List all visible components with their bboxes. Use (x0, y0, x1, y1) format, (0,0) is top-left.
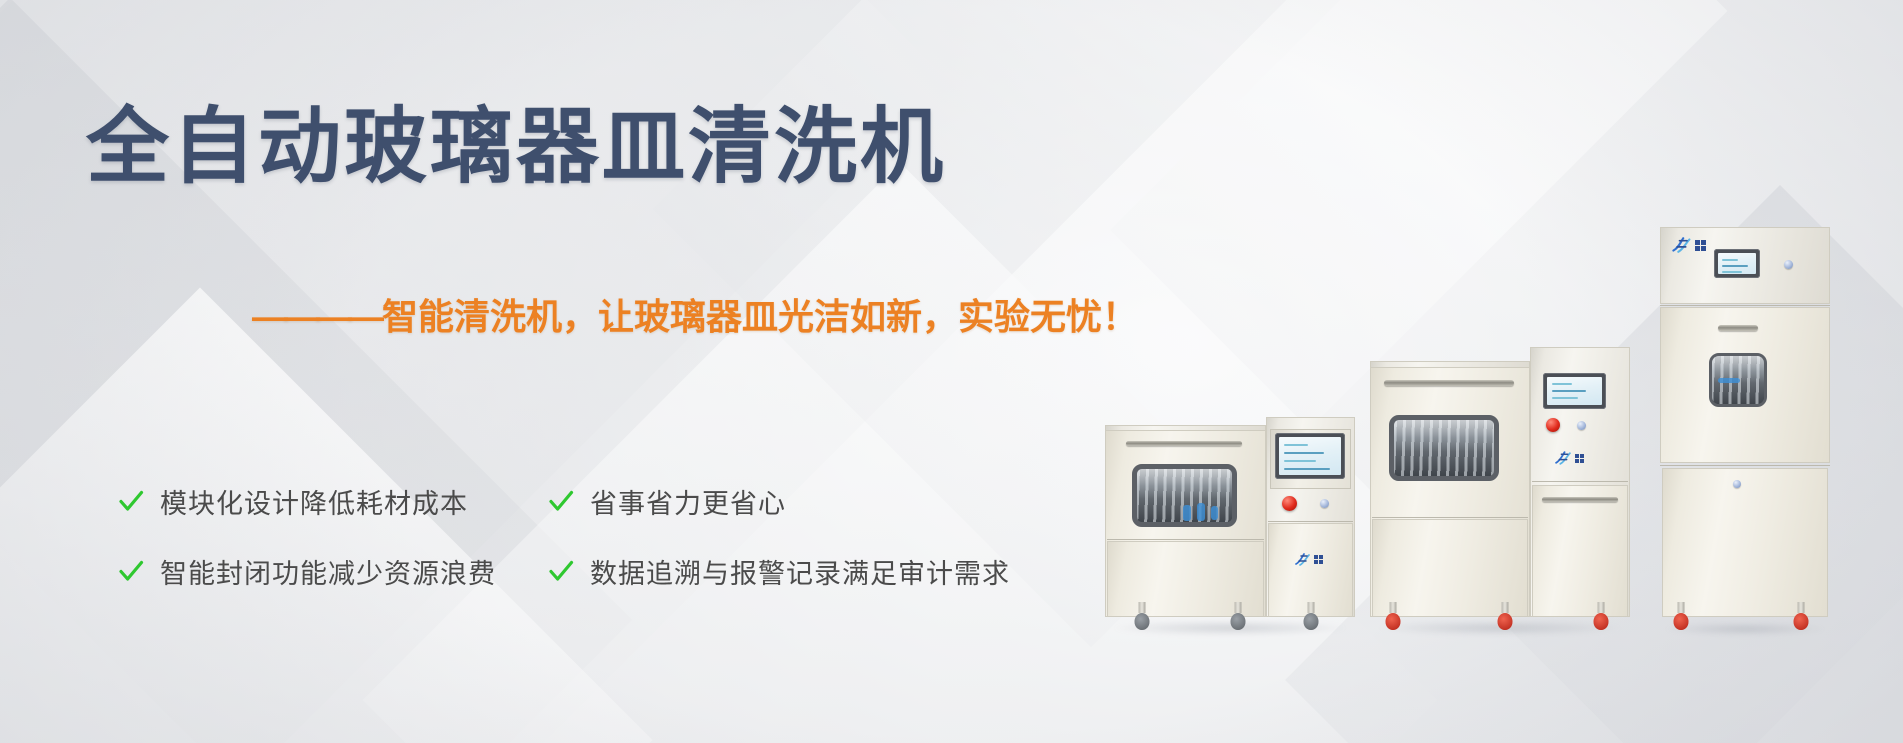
door-latch-button[interactable] (1733, 480, 1741, 488)
chamber-top-lip (1105, 425, 1266, 431)
chamber-viewing-window (1132, 464, 1237, 527)
feature-item: 数据追溯与报警记录满足审计需求 (548, 552, 998, 591)
glassware-rack-item (1718, 378, 1740, 383)
product-photo-group (1095, 0, 1903, 743)
emergency-stop-button[interactable] (1546, 418, 1560, 432)
brand-wordmark-icon (1695, 240, 1706, 251)
emergency-stop-button[interactable] (1282, 496, 1297, 511)
product-image-undercounter-glassware-washer (1105, 417, 1355, 630)
caster-wheel (1496, 602, 1514, 630)
feature-item: 模块化设计降低耗材成本 (118, 482, 548, 521)
hmi-status-line (1284, 452, 1324, 454)
panel-seam (1107, 539, 1264, 540)
window-glass (1394, 420, 1494, 476)
hmi-touchscreen[interactable] (1714, 249, 1760, 278)
hmi-status-line (1722, 271, 1742, 273)
power-indicator-button[interactable] (1784, 260, 1793, 269)
hmi-status-line (1284, 460, 1316, 462)
brand-logo (1672, 237, 1706, 253)
door-handle (1126, 441, 1242, 446)
product-hero-banner: 全自动玻璃器皿清洗机 ————智能清洗机，让玻璃器皿光洁如新，实验无忧！ 模块化… (0, 0, 1903, 743)
power-indicator-button[interactable] (1577, 421, 1586, 430)
check-icon (118, 488, 144, 514)
hmi-status-line (1552, 383, 1572, 385)
glassware-rack-item (1183, 505, 1191, 521)
hmi-status-line (1284, 444, 1308, 446)
check-icon (118, 558, 144, 584)
panel-seam (1660, 305, 1830, 306)
tower-lower-door (1532, 485, 1628, 617)
panel-seam (1268, 521, 1353, 522)
feature-item: 智能封闭功能减少资源浪费 (118, 552, 548, 591)
banner-copy: 全自动玻璃器皿清洗机 ————智能清洗机，让玻璃器皿光洁如新，实验无忧！ 模块化… (0, 0, 1100, 743)
caster-wheel (1592, 602, 1610, 630)
brand-wordmark-icon (1314, 555, 1323, 564)
feature-label: 智能封闭功能减少资源浪费 (160, 552, 496, 591)
hmi-screen[interactable] (1547, 377, 1602, 405)
door-handle (1384, 380, 1514, 386)
power-indicator-button[interactable] (1320, 499, 1329, 508)
brand-logo (1555, 451, 1584, 465)
brand-wordmark-icon (1575, 454, 1584, 463)
door-handle (1718, 325, 1758, 331)
hmi-status-line (1284, 468, 1330, 470)
feature-label: 模块化设计降低耗材成本 (160, 482, 468, 521)
feature-label: 数据追溯与报警记录满足审计需求 (590, 552, 1010, 591)
panel-seam (1372, 517, 1528, 518)
check-icon (548, 488, 574, 514)
lower-door-handle (1542, 497, 1618, 502)
subtitle-dash-prefix: ———— (252, 296, 380, 337)
hmi-status-line (1722, 259, 1738, 261)
caster-wheel (1229, 602, 1247, 630)
panel-seam (1660, 465, 1830, 466)
hmi-touchscreen[interactable] (1275, 433, 1345, 479)
banner-subtitle: ————智能清洗机，让玻璃器皿光洁如新，实验无忧！ (252, 288, 1138, 340)
lower-access-door (1662, 468, 1828, 617)
panel-seam (1532, 481, 1628, 482)
feature-label: 省事省力更省心 (590, 482, 786, 521)
product-image-tall-cabinet-glassware-washer (1660, 227, 1830, 630)
hmi-screen[interactable] (1718, 253, 1756, 274)
product-image-freestanding-glassware-washer (1370, 347, 1630, 630)
glassware-rack-item (1211, 506, 1218, 520)
caster-wheel (1133, 602, 1151, 630)
chamber-viewing-window (1389, 415, 1499, 481)
brand-mark-icon (1672, 237, 1692, 253)
brand-mark-icon (1555, 451, 1572, 465)
subtitle-text: 智能清洗机，让玻璃器皿光洁如新，实验无忧！ (382, 296, 1138, 337)
chamber-viewing-window (1709, 353, 1767, 407)
brand-logo (1295, 553, 1323, 566)
hmi-status-line (1552, 390, 1586, 392)
glassware-rack-item (1197, 503, 1205, 521)
hmi-status-line (1722, 265, 1748, 267)
check-icon (548, 558, 574, 584)
feature-item: 省事省力更省心 (548, 482, 998, 521)
feature-list: 模块化设计降低耗材成本 省事省力更省心 智能封闭功能减少资源浪费 数据追溯与报警… (118, 466, 998, 606)
brand-mark-icon (1295, 553, 1311, 566)
banner-headline: 全自动玻璃器皿清洗机 (86, 105, 946, 188)
hmi-screen[interactable] (1279, 437, 1341, 475)
hmi-touchscreen[interactable] (1543, 373, 1606, 409)
caster-wheel (1672, 602, 1690, 630)
caster-wheel (1792, 602, 1810, 630)
chamber-top-lip (1370, 361, 1530, 368)
caster-wheel (1384, 602, 1402, 630)
caster-wheel (1302, 602, 1320, 630)
hmi-status-line (1552, 397, 1578, 399)
